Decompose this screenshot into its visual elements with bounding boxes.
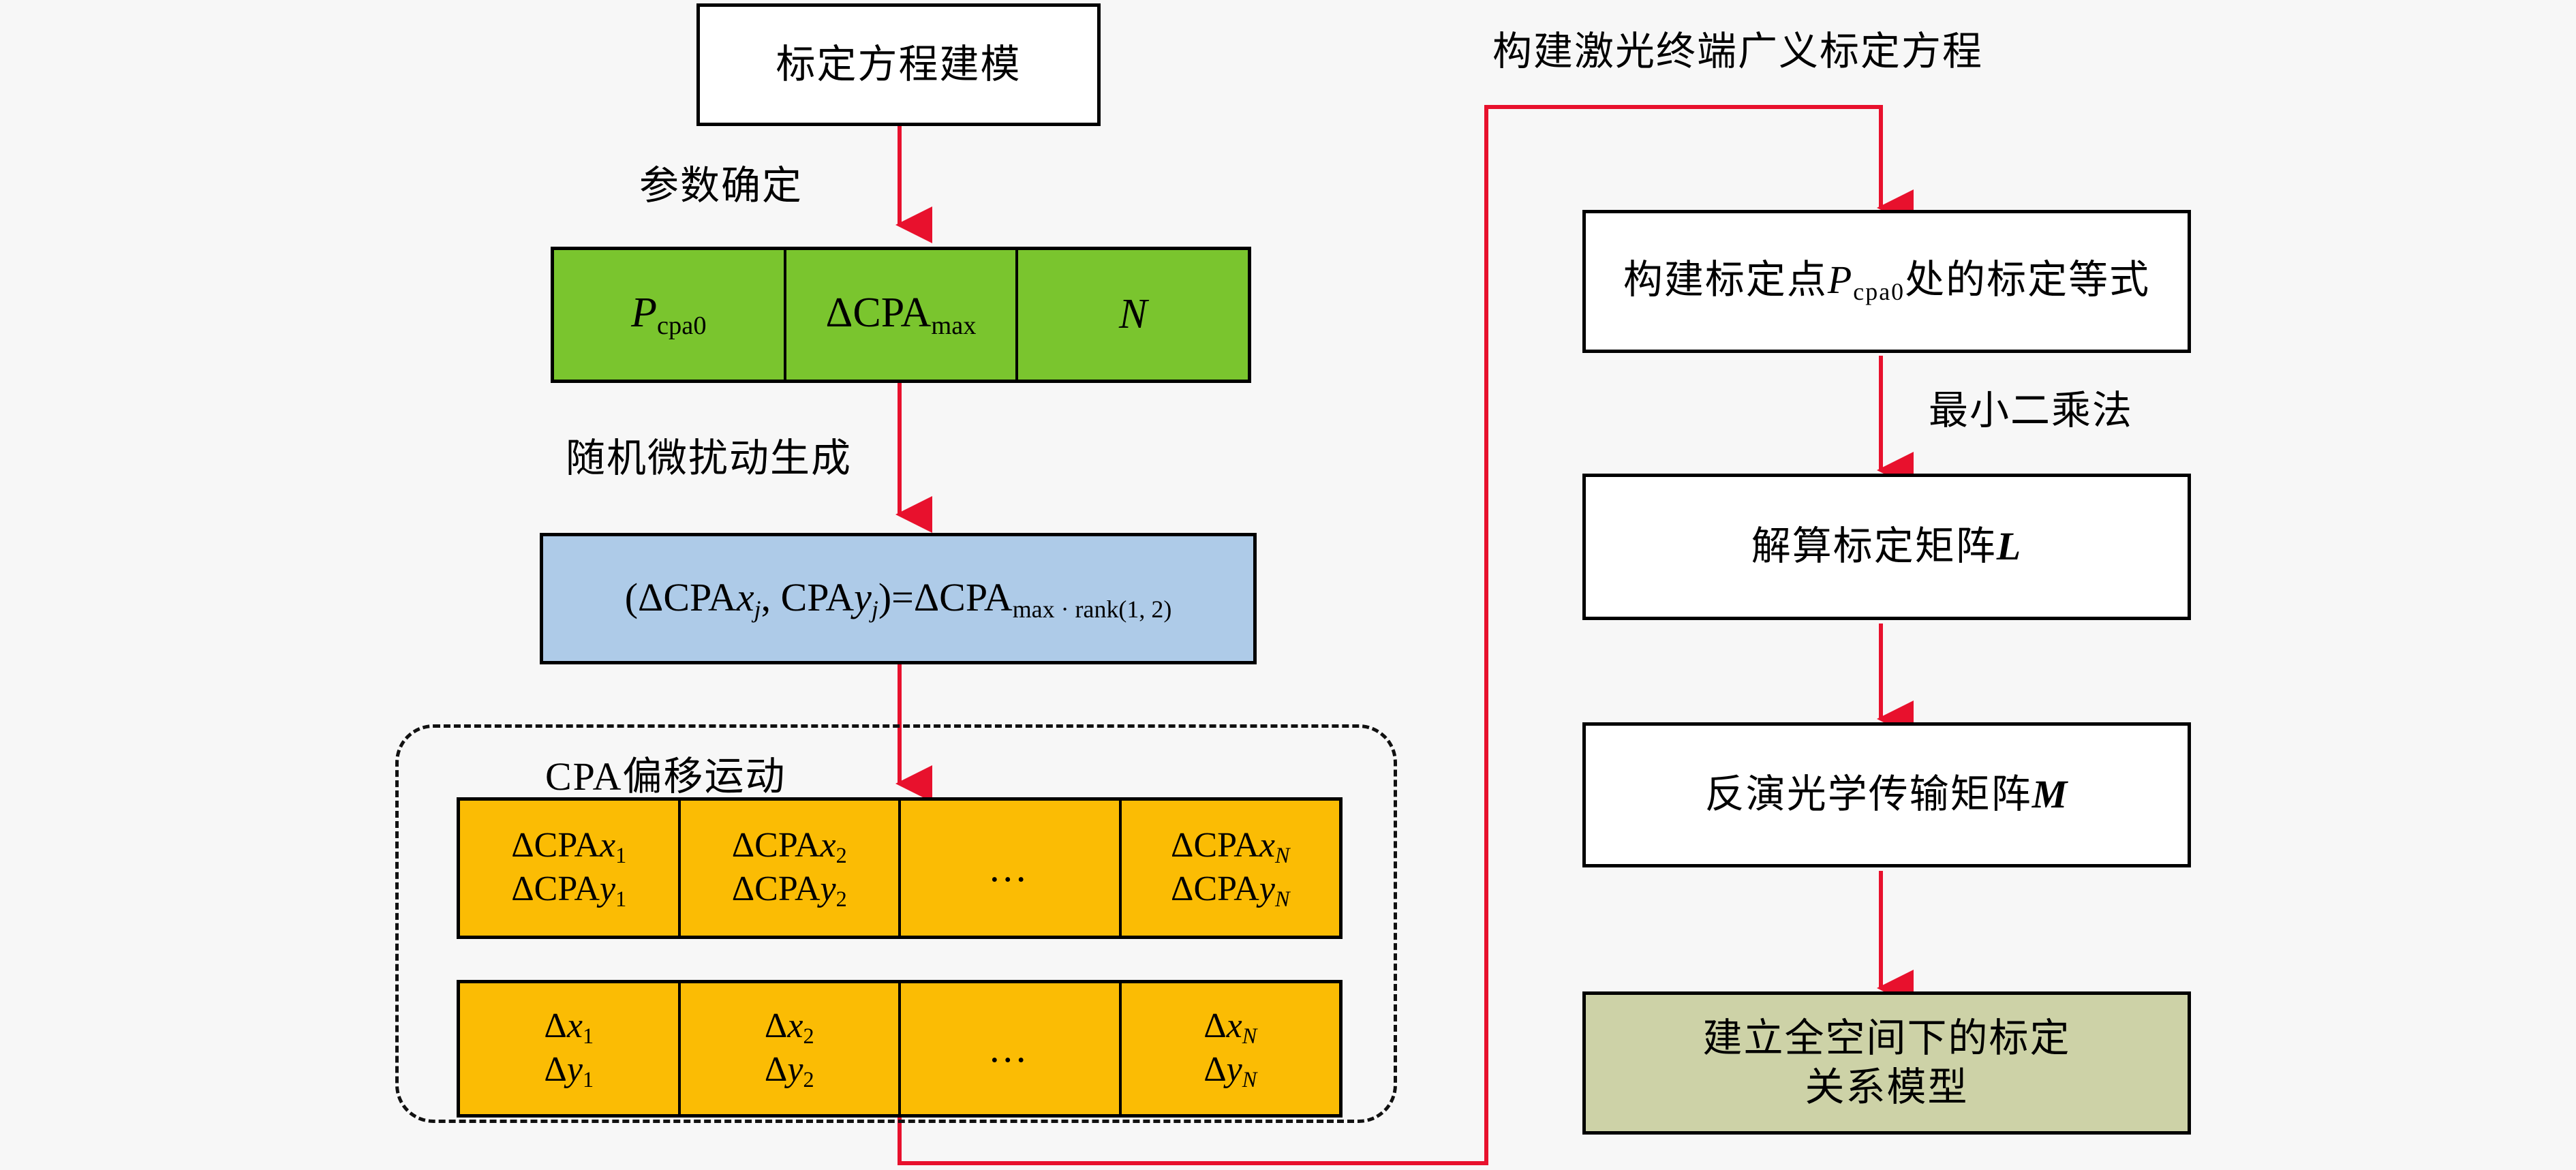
cpa-offset-table-row-2: Δx1 Δy1 Δx2 Δy2 … ΔxN ΔyN xyxy=(457,980,1343,1118)
parameter-cell-pcpa0[interactable]: Pcpa0 xyxy=(554,250,786,380)
node-invert-optical-transfer-matrix[interactable]: 反演光学传输矩阵M xyxy=(1582,722,2191,867)
parameter-delta-cpa-max-sub: max xyxy=(931,311,976,340)
cpa-offset-cell-n[interactable]: ΔCPAxN ΔCPAyN xyxy=(1122,801,1340,936)
delta-cell-n[interactable]: ΔxN ΔyN xyxy=(1122,983,1340,1114)
parameter-cell-delta-cpa-max[interactable]: ΔCPAmax xyxy=(786,250,1019,380)
delta-cell-1[interactable]: Δx1 Δy1 xyxy=(460,983,681,1114)
node-solve-calibration-matrix-label: 解算标定矩阵L xyxy=(1751,522,2022,572)
node-perturbation-formula[interactable]: (ΔCPAxj, CPAyj)=ΔCPAmax · rank(1, 2) xyxy=(540,533,1257,664)
edge-label-random-perturbation-generation: 随机微扰动生成 xyxy=(566,426,852,483)
node-build-fullspace-calibration-model-line1: 建立全空间下的标定 xyxy=(1702,1014,2070,1064)
node-solve-calibration-matrix[interactable]: 解算标定矩阵L xyxy=(1582,474,2191,620)
edge-label-least-squares: 最小二乘法 xyxy=(1929,378,2133,435)
node-invert-optical-transfer-matrix-label: 反演光学传输矩阵M xyxy=(1705,770,2069,820)
node-calibration-equation-modeling-label: 标定方程建模 xyxy=(776,40,1021,90)
parameter-pcpa0-base: P xyxy=(631,290,657,336)
cpa-offset-cell-2[interactable]: ΔCPAx2 ΔCPAy2 xyxy=(681,801,902,936)
group-label-cpa-offset-motion: CPA偏移运动 xyxy=(545,744,786,801)
cpa-offset-cell-ellipsis: … xyxy=(901,801,1122,936)
node-build-fullspace-calibration-model-line2: 关系模型 xyxy=(1805,1063,1968,1113)
node-build-fullspace-calibration-model[interactable]: 建立全空间下的标定 关系模型 xyxy=(1582,991,2191,1135)
edge-label-parameter-determination: 参数确定 xyxy=(639,153,803,211)
flowchart-canvas: 标定方程建模 参数确定 Pcpa0 ΔCPAmax N 随机微扰动生成 (ΔCP… xyxy=(0,0,2576,1170)
delta-cell-2[interactable]: Δx2 Δy2 xyxy=(681,983,902,1114)
node-build-calibration-identity[interactable]: 构建标定点Pcpa0处的标定等式 xyxy=(1582,210,2191,353)
node-calibration-equation-modeling[interactable]: 标定方程建模 xyxy=(696,3,1101,126)
parameter-cell-n[interactable]: N xyxy=(1018,250,1248,380)
parameter-strip: Pcpa0 ΔCPAmax N xyxy=(551,247,1251,383)
perturbation-formula: (ΔCPAxj, CPAyj)=ΔCPAmax · rank(1, 2) xyxy=(625,573,1172,625)
parameter-pcpa0-sub: cpa0 xyxy=(657,311,707,340)
parameter-delta-cpa-max-base: ΔCPA xyxy=(826,290,932,336)
parameter-n-base: N xyxy=(1119,291,1147,337)
right-branch-title: 构建激光终端广义标定方程 xyxy=(1492,19,1983,76)
cpa-offset-cell-1[interactable]: ΔCPAx1 ΔCPAy1 xyxy=(460,801,681,936)
cpa-offset-table-row-1: ΔCPAx1 ΔCPAy1 ΔCPAx2 ΔCPAy2 … ΔCPAxN ΔCP… xyxy=(457,797,1343,939)
delta-cell-ellipsis: … xyxy=(901,983,1122,1114)
node-build-calibration-identity-label: 构建标定点Pcpa0处的标定等式 xyxy=(1623,256,2150,307)
